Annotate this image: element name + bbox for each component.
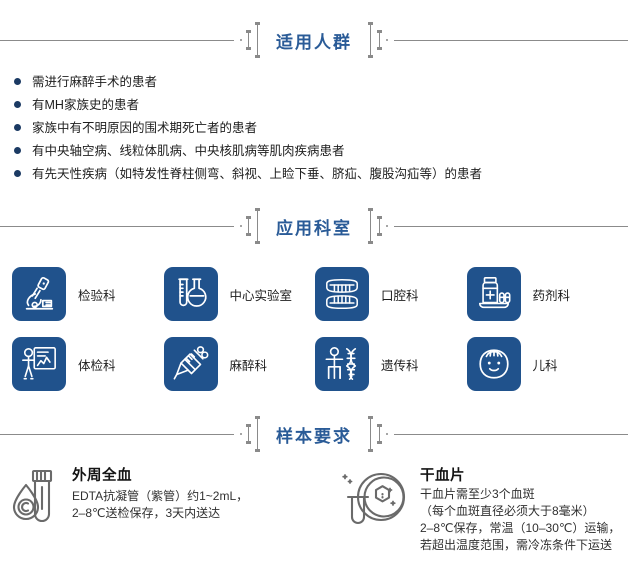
ornament-ibeam-tall-icon	[255, 208, 260, 244]
section-header-sample-requirements: 样本要求	[0, 416, 628, 452]
ornament-ibeam-short-icon	[377, 424, 382, 444]
child-face-icon	[475, 345, 513, 383]
department-item-lab[interactable]: 检验科	[12, 260, 164, 328]
sample-icon-wrapper	[10, 468, 62, 535]
page-title-target-population: 适用人群	[266, 28, 362, 53]
list-item: 有中央轴空病、线粒体肌病、中央核肌病等肌肉疾病患者	[14, 141, 628, 161]
header-ornament-right	[362, 416, 394, 452]
sample-requirements-row: 外周全血 EDTA抗凝管（紫管）约1~2mL， 2–8℃送检保存，3天内送达 干…	[0, 464, 628, 554]
blood-tube-drop-icon	[10, 468, 62, 530]
department-tile	[467, 337, 521, 391]
list-item-label: 有中央轴空病、线粒体肌病、中央核肌病等肌肉疾病患者	[32, 141, 345, 161]
list-item-label: 家族中有不明原因的围术期死亡者的患者	[32, 118, 257, 138]
dna-person-icon	[323, 345, 361, 383]
department-tile	[12, 267, 66, 321]
divider-line-right	[394, 226, 628, 227]
ornament-dot	[386, 433, 388, 435]
list-item: 有先天性疾病（如特发性脊柱侧弯、斜视、上睑下垂、脐疝、腹股沟疝等）的患者	[14, 164, 628, 184]
header-ornament-left	[234, 416, 266, 452]
bullet-icon	[14, 170, 21, 177]
ornament-dot	[240, 225, 242, 227]
header-ornament-left	[234, 22, 266, 58]
sample-line: EDTA抗凝管（紫管）约1~2mL，	[72, 488, 248, 505]
sample-text-block: 外周全血 EDTA抗凝管（紫管）约1~2mL， 2–8℃送检保存，3天内送达	[72, 464, 248, 522]
department-item-genetics[interactable]: 遗传科	[315, 330, 467, 398]
ornament-ibeam-short-icon	[246, 30, 251, 50]
section-header-target-population: 适用人群	[0, 22, 628, 58]
list-item-label: 需进行麻醉手术的患者	[32, 72, 157, 92]
target-population-list: 需进行麻醉手术的患者 有MH家族史的患者 家族中有不明原因的围术期死亡者的患者 …	[0, 72, 628, 184]
department-tile	[467, 267, 521, 321]
ornament-ibeam-tall-icon	[255, 22, 260, 58]
departments-grid: 检验科 中心实验室 口腔科	[0, 260, 628, 398]
ornament-dot	[240, 433, 242, 435]
checkup-chart-icon	[20, 345, 58, 383]
list-item-label: 有先天性疾病（如特发性脊柱侧弯、斜视、上睑下垂、脐疝、腹股沟疝等）的患者	[32, 164, 482, 184]
bullet-icon	[14, 147, 21, 154]
sample-peripheral-blood: 外周全血 EDTA抗凝管（紫管）约1~2mL， 2–8℃送检保存，3天内送达	[10, 464, 340, 554]
header-ornament-right	[362, 22, 394, 58]
department-tile	[164, 267, 218, 321]
header-ornament-right	[362, 208, 394, 244]
page-title-sample-requirements: 样本要求	[266, 422, 362, 447]
department-label: 中心实验室	[230, 285, 293, 304]
bullet-icon	[14, 101, 21, 108]
divider-line-right	[394, 434, 628, 435]
sample-line: 2–8℃送检保存，3天内送达	[72, 505, 248, 522]
list-item: 需进行麻醉手术的患者	[14, 72, 628, 92]
department-label: 检验科	[78, 285, 116, 304]
department-item-pediatrics[interactable]: 儿科	[467, 330, 619, 398]
syringe-icon	[172, 345, 210, 383]
sample-dried-blood-spot: 干血片 干血片需至少3个血斑 （每个血斑直径必须大于8毫米） 2–8℃保存，常温…	[340, 464, 622, 554]
page-title-departments: 应用科室	[266, 214, 362, 239]
department-label: 遗传科	[381, 355, 419, 374]
sample-title: 外周全血	[72, 464, 248, 485]
ornament-dot	[386, 39, 388, 41]
ornament-ibeam-short-icon	[377, 30, 382, 50]
section-header-departments: 应用科室	[0, 208, 628, 244]
department-label: 口腔科	[381, 285, 419, 304]
department-item-central-lab[interactable]: 中心实验室	[164, 260, 316, 328]
divider-line-right	[394, 40, 628, 41]
sample-line: 若超出温度范围，需冷冻条件下运送	[420, 537, 620, 554]
petri-dish-icon	[340, 466, 410, 532]
department-tile	[12, 337, 66, 391]
bullet-icon	[14, 124, 21, 131]
sample-line: 2–8℃保存，常温（10–30℃）运输，	[420, 520, 620, 537]
department-item-checkup[interactable]: 体检科	[12, 330, 164, 398]
ornament-ibeam-short-icon	[246, 216, 251, 236]
department-item-pharmacy[interactable]: 药剂科	[467, 260, 619, 328]
sample-line: 干血片需至少3个血斑	[420, 486, 620, 503]
sample-line: （每个血斑直径必须大于8毫米）	[420, 503, 620, 520]
department-tile	[164, 337, 218, 391]
ornament-ibeam-tall-icon	[368, 208, 373, 244]
department-tile	[315, 337, 369, 391]
ornament-ibeam-short-icon	[377, 216, 382, 236]
list-item-label: 有MH家族史的患者	[32, 95, 139, 115]
department-label: 体检科	[78, 355, 116, 374]
ornament-ibeam-tall-icon	[368, 416, 373, 452]
header-ornament-left	[234, 208, 266, 244]
department-label: 麻醉科	[230, 355, 268, 374]
flask-tube-icon	[172, 275, 210, 313]
divider-line-left	[0, 40, 234, 41]
teeth-icon	[323, 275, 361, 313]
ornament-dot	[386, 225, 388, 227]
sample-icon-wrapper	[340, 466, 410, 537]
ornament-ibeam-tall-icon	[255, 416, 260, 452]
bullet-icon	[14, 78, 21, 85]
ornament-dot	[240, 39, 242, 41]
ornament-ibeam-short-icon	[246, 424, 251, 444]
medicine-bottle-icon	[475, 275, 513, 313]
microscope-icon	[20, 275, 58, 313]
divider-line-left	[0, 434, 234, 435]
department-label: 药剂科	[533, 285, 571, 304]
department-item-dental[interactable]: 口腔科	[315, 260, 467, 328]
department-item-anesthesia[interactable]: 麻醉科	[164, 330, 316, 398]
list-item: 有MH家族史的患者	[14, 95, 628, 115]
divider-line-left	[0, 226, 234, 227]
list-item: 家族中有不明原因的围术期死亡者的患者	[14, 118, 628, 138]
sample-text-block: 干血片 干血片需至少3个血斑 （每个血斑直径必须大于8毫米） 2–8℃保存，常温…	[420, 464, 620, 554]
ornament-ibeam-tall-icon	[368, 22, 373, 58]
department-tile	[315, 267, 369, 321]
sample-title: 干血片	[420, 464, 620, 485]
department-label: 儿科	[533, 355, 558, 374]
